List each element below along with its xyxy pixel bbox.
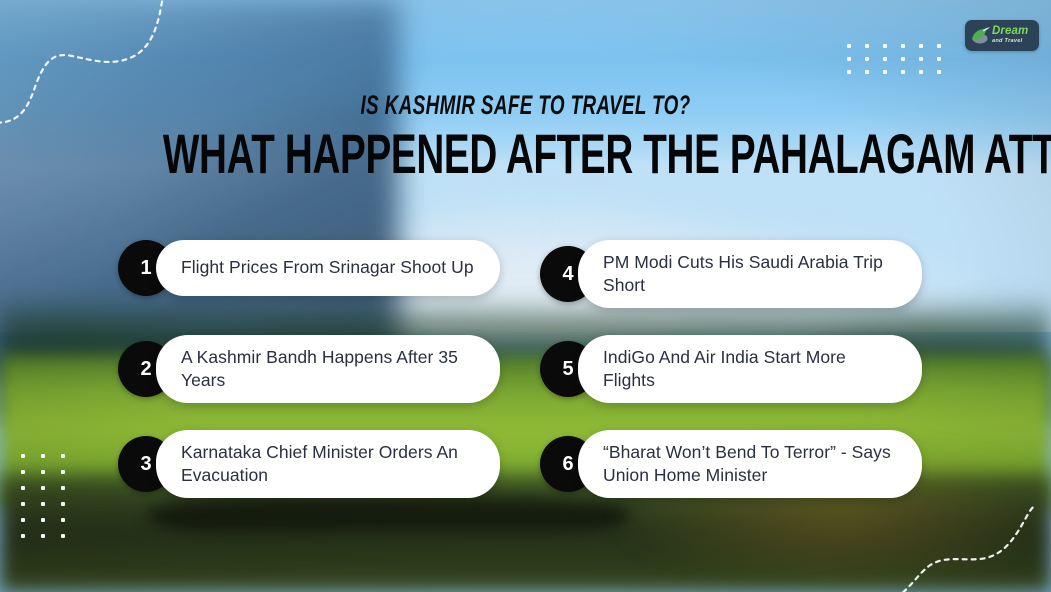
item-label: Karnataka Chief Minister Orders An Evacu… — [181, 441, 480, 487]
item-pill[interactable]: Karnataka Chief Minister Orders An Evacu… — [156, 430, 500, 498]
list-item[interactable]: 2 A Kashmir Bandh Happens After 35 Years — [118, 335, 500, 403]
list-item[interactable]: 4 PM Modi Cuts His Saudi Arabia Trip Sho… — [540, 240, 922, 308]
infographic-poster: Dream and Travel IS KASHMIR SAFE TO TRAV… — [0, 0, 1051, 592]
item-label: A Kashmir Bandh Happens After 35 Years — [181, 346, 480, 392]
item-pill[interactable]: “Bharat Won’t Bend To Terror” - Says Uni… — [578, 430, 922, 498]
list-item[interactable]: 3 Karnataka Chief Minister Orders An Eva… — [118, 430, 500, 498]
list-item[interactable]: 6 “Bharat Won’t Bend To Terror” - Says U… — [540, 430, 922, 498]
list-item[interactable]: 5 IndiGo And Air India Start More Flight… — [540, 335, 922, 403]
points-list: 1 Flight Prices From Srinagar Shoot Up 2… — [0, 0, 1051, 592]
item-pill[interactable]: A Kashmir Bandh Happens After 35 Years — [156, 335, 500, 403]
list-item[interactable]: 1 Flight Prices From Srinagar Shoot Up — [118, 240, 500, 296]
item-label: PM Modi Cuts His Saudi Arabia Trip Short — [603, 251, 902, 297]
item-pill[interactable]: IndiGo And Air India Start More Flights — [578, 335, 922, 403]
item-label: IndiGo And Air India Start More Flights — [603, 346, 902, 392]
item-label: Flight Prices From Srinagar Shoot Up — [181, 256, 474, 279]
item-pill[interactable]: PM Modi Cuts His Saudi Arabia Trip Short — [578, 240, 922, 308]
item-label: “Bharat Won’t Bend To Terror” - Says Uni… — [603, 441, 902, 487]
item-pill[interactable]: Flight Prices From Srinagar Shoot Up — [156, 240, 500, 296]
